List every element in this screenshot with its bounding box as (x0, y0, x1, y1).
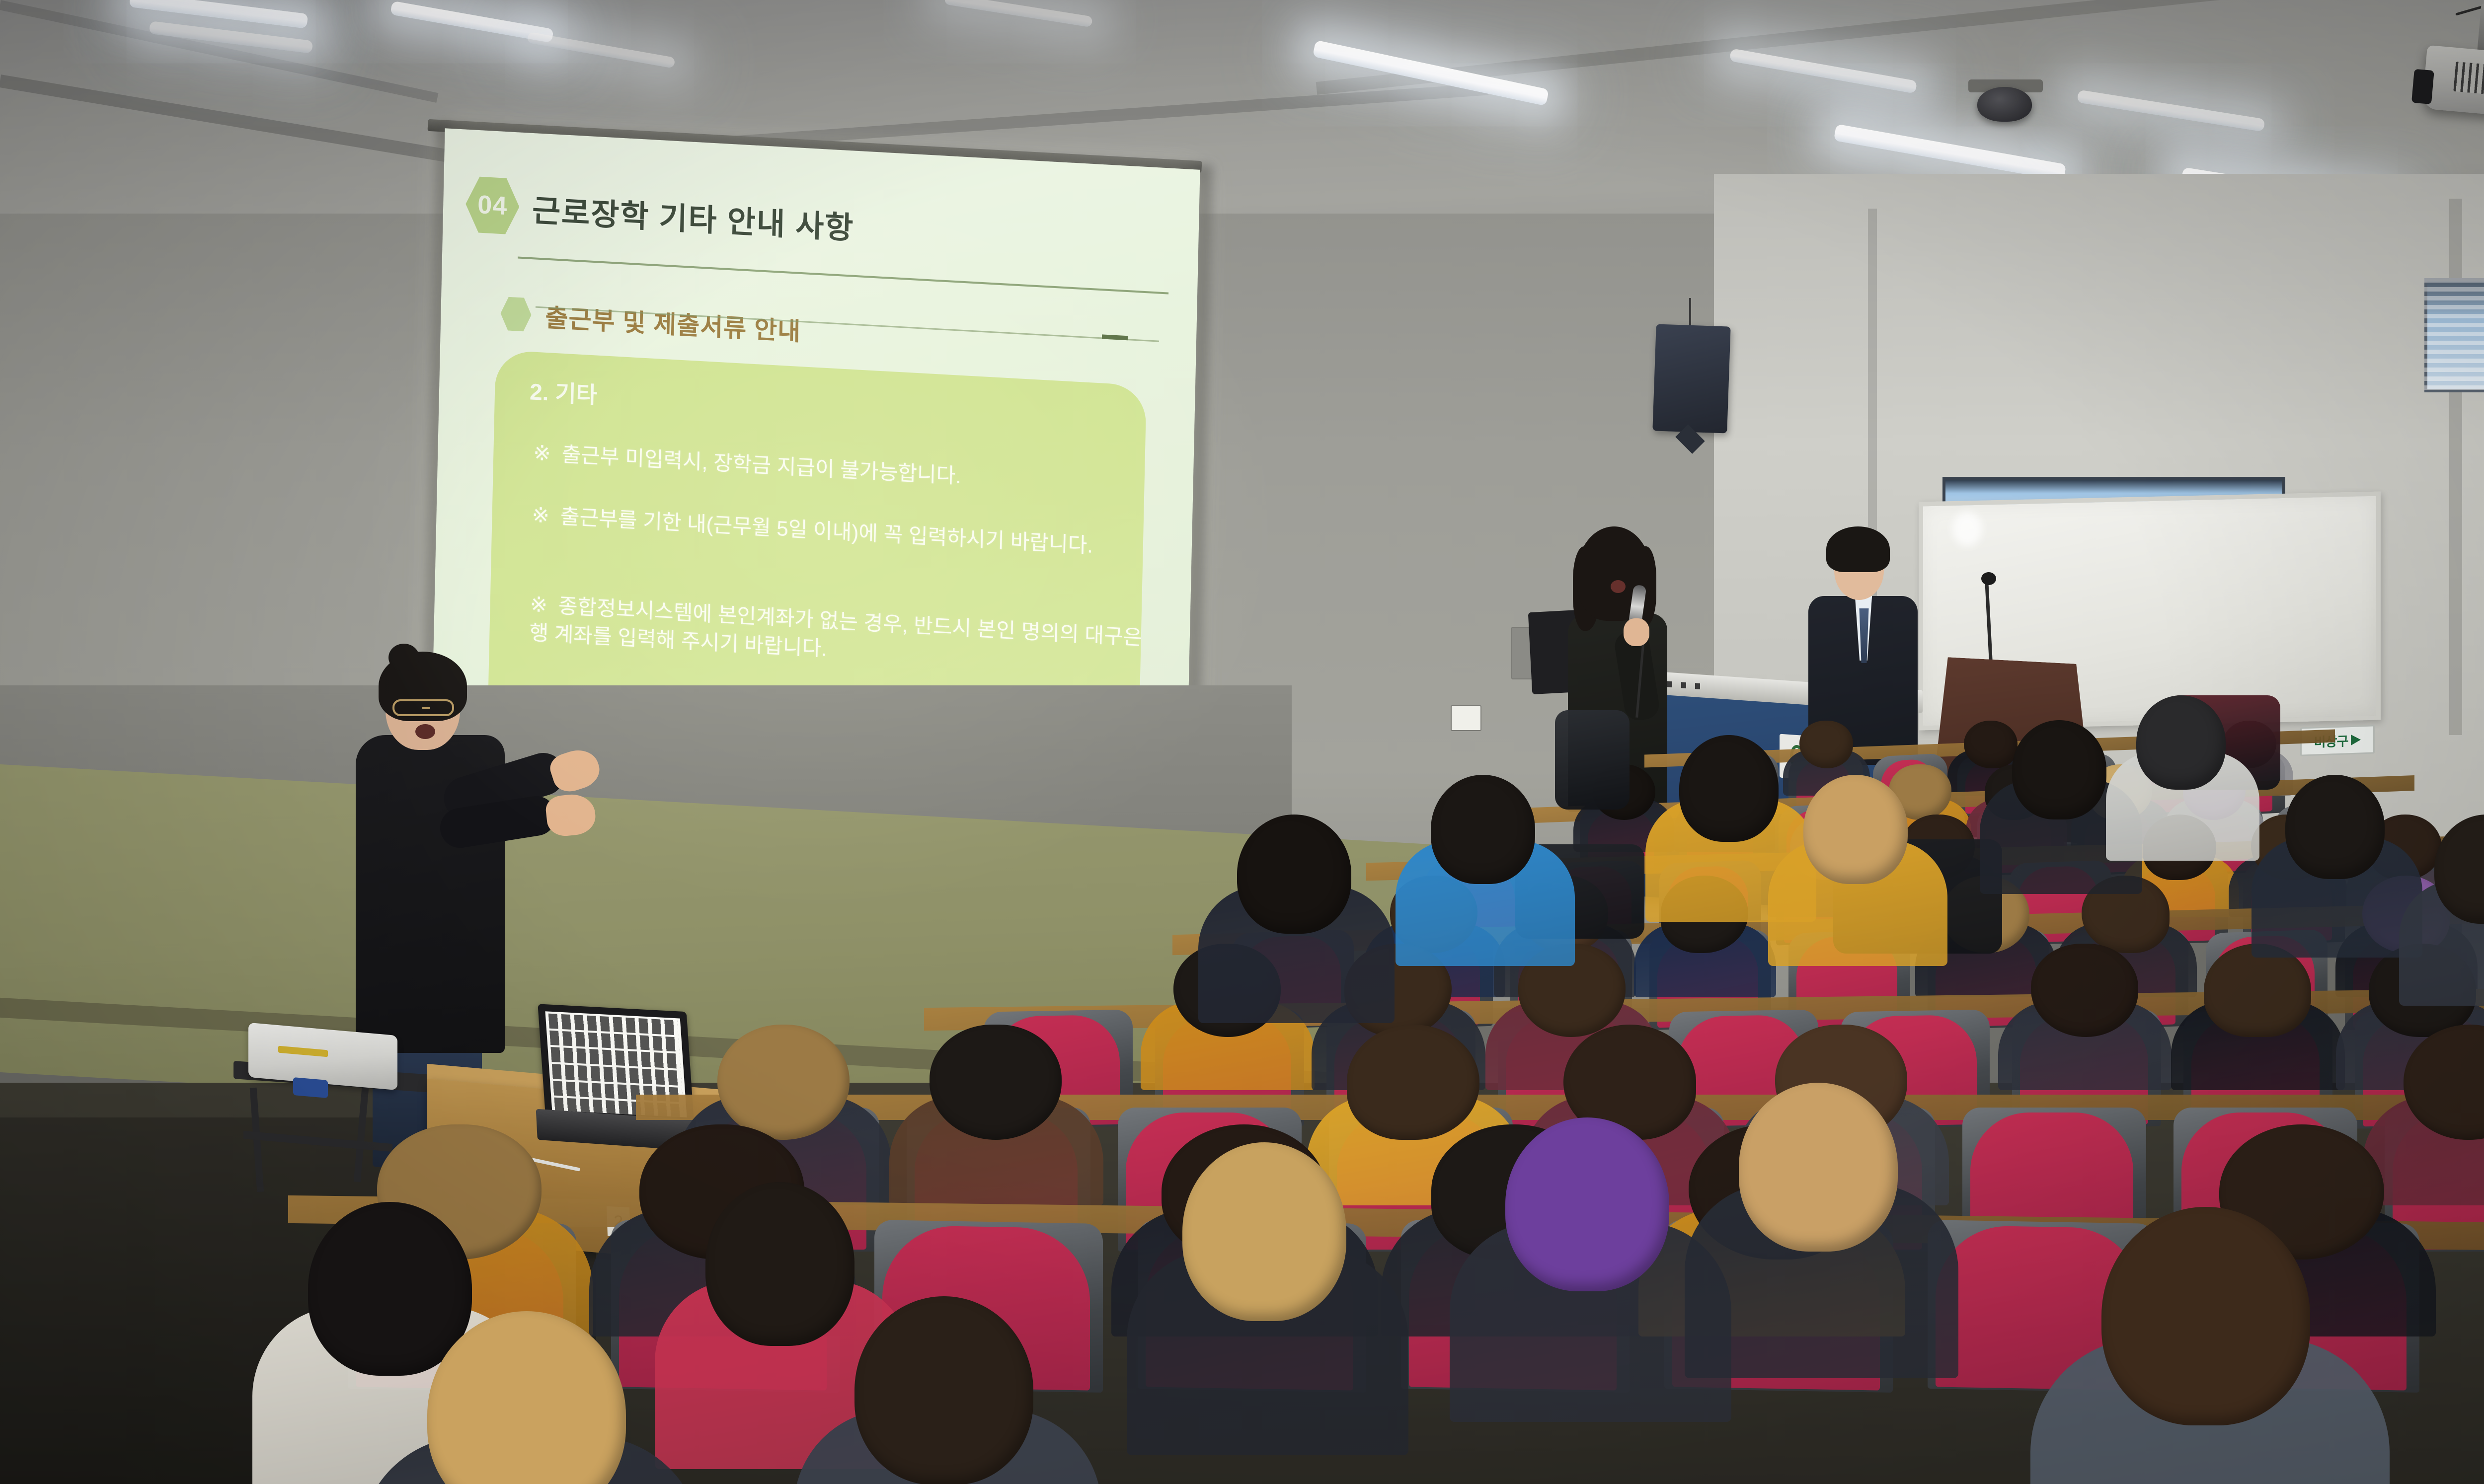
attendee-light-hair (1739, 1083, 1898, 1252)
attendee-head (2204, 944, 2311, 1037)
wall-speaker-icon (1652, 324, 1730, 433)
wheelchair-headrest (1555, 710, 1630, 810)
attendee-patterned-hood (308, 1202, 472, 1376)
attendee-yellow-coat (1679, 735, 1779, 842)
cart-shelf (243, 1131, 392, 1152)
slide-number-badge: 04 (465, 174, 520, 237)
attendee-head (1347, 1025, 1479, 1140)
bullet-mark: ※ (532, 503, 549, 527)
projector-vent (2453, 62, 2484, 98)
attendee-blonde-ponytail (1182, 1142, 1346, 1321)
cart-leg (354, 1088, 369, 1182)
attendee-red-coat (705, 1182, 854, 1346)
slide-subheader: 출근부 및 제출서류 안내 (500, 296, 801, 348)
wall-outlet-plate (1451, 705, 1481, 731)
exit-arrow-icon (2351, 734, 2361, 745)
slide-subtitle: 출근부 및 제출서류 안내 (545, 298, 801, 348)
subtitle-divider-tick (1102, 334, 1128, 340)
attendee-head (2031, 944, 2138, 1037)
eyeglasses-icon (392, 699, 454, 716)
attendee-foreground (854, 1296, 1033, 1484)
microphone-head-icon (1981, 572, 1996, 585)
whiteboard-glare (1952, 512, 1982, 546)
subtitle-bullet-icon (500, 296, 532, 333)
sign-language-interpreter (343, 661, 551, 1058)
attendee-mid-row (1237, 815, 1351, 934)
speaker-wire (1689, 298, 1691, 329)
presenter-hand (1624, 618, 1649, 646)
attendee-with-cap (2136, 695, 2226, 790)
staff-hair (1826, 526, 1890, 572)
attendee-purple-hair (1505, 1117, 1669, 1291)
bullet-item: ※출근부 미입력시, 장학금 지급이 불가능합니다. (533, 439, 1140, 501)
slide-header: 04 근로장학 기타 안내 사항 (465, 174, 855, 255)
content-heading: 2. 기타 (530, 373, 598, 410)
bullet-item: ※출근부를 기한 내(근무월 5일 이내)에 꼭 입력하시기 바랍니다. (532, 501, 1143, 563)
attendee-blue-jacket (1431, 775, 1535, 884)
attendee-head (930, 1025, 1062, 1140)
bullet-mark: ※ (533, 441, 551, 465)
title-divider (518, 257, 1168, 295)
window-blinds (2424, 278, 2484, 392)
attendee-right-block (2285, 775, 2385, 879)
attendee-foreground-glasses (2101, 1207, 2310, 1425)
interpreter-mouth (415, 724, 435, 739)
attendee-head (717, 1025, 850, 1140)
attendee-yellow-coat-2 (1803, 775, 1908, 884)
ceiling-dome-speaker-icon (1977, 87, 2032, 122)
interpreter-hair-bun (388, 644, 419, 671)
lecture-hall-photo: 비상구 04 근로장학 기타 안내 사항 출근부 및 제출서류 안내 2. 기타 (0, 0, 2484, 1484)
bullet-text: 출근부 미입력시, 장학금 지급이 불가능합니다. (561, 443, 961, 488)
projector-lens (2411, 69, 2434, 104)
presenter-mouth (1611, 580, 1626, 593)
slide-title: 근로장학 기타 안내 사항 (532, 185, 854, 248)
attendee-head (1799, 721, 1853, 768)
attendee-head (1964, 721, 2018, 768)
projector-lens (293, 1077, 328, 1098)
bullet-text: 출근부를 기한 내(근무월 5일 이내)에 꼭 입력하시기 바랍니다. (560, 505, 1093, 557)
bullet-text: 종합정보시스템에 본인계좌가 없는 경우, 반드시 본인 명의의 대구은행 계좌… (529, 594, 1143, 661)
bullet-mark: ※ (530, 593, 547, 617)
attendee-back-row (2012, 720, 2106, 819)
bullet-item: ※종합정보시스템에 본인계좌가 없는 경우, 반드시 본인 명의의 대구은행 계… (529, 591, 1146, 681)
